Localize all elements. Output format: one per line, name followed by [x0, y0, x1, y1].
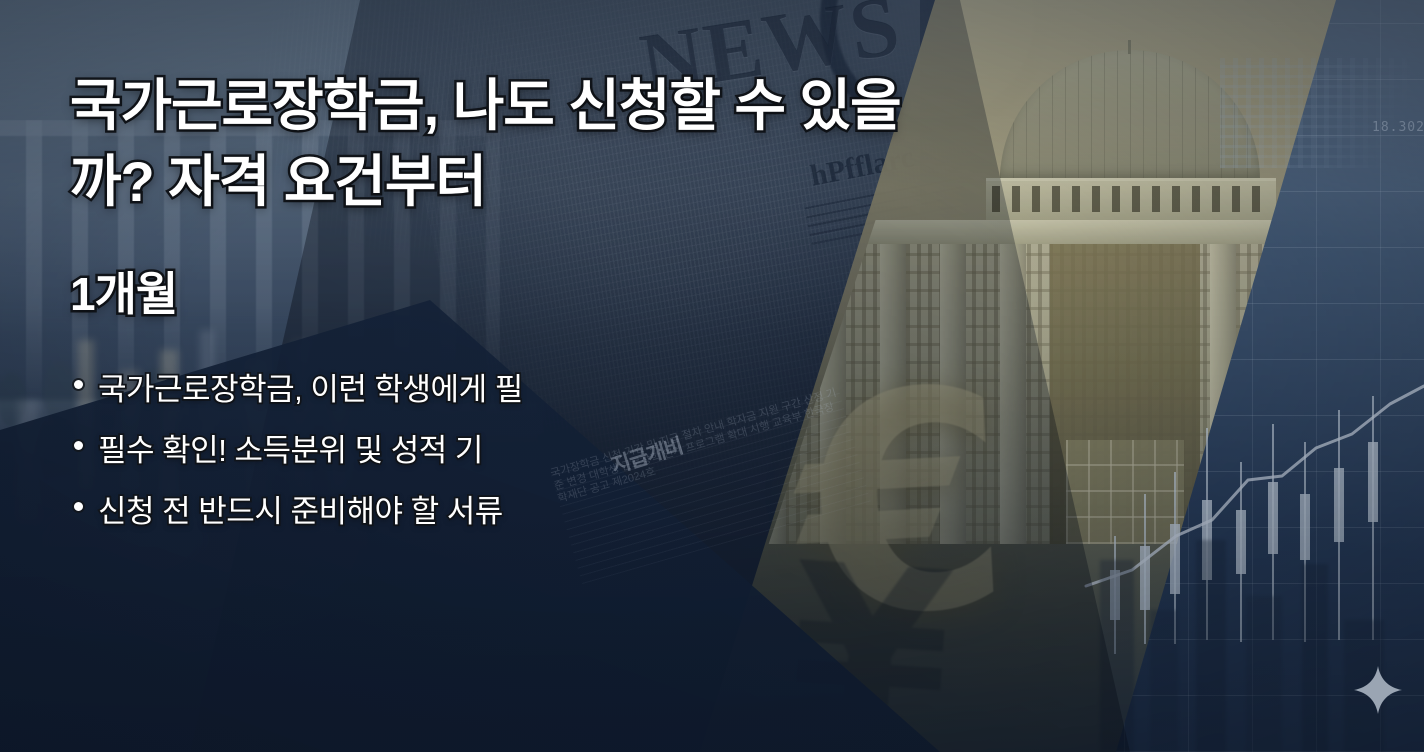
thumbnail-canvas: NEWS hPfflarc € ¥ 18.302.4: [0, 0, 1424, 752]
list-item: 국가근로장학금, 이런 학생에게 필: [70, 364, 523, 409]
topic-list: 국가근로장학금, 이런 학생에게 필 필수 확인! 소득분위 및 성적 기 신청…: [70, 364, 523, 547]
duration-label: 1개월: [70, 258, 177, 324]
list-item: 신청 전 반드시 준비해야 할 서류: [70, 486, 523, 531]
page-title: 국가근로장학금, 나도 신청할 수 있을까? 자격 요건부터: [70, 68, 940, 220]
thumbnail-content: 국가근로장학금, 나도 신청할 수 있을까? 자격 요건부터 1개월 국가근로장…: [0, 0, 1424, 752]
list-item: 필수 확인! 소득분위 및 성적 기: [70, 425, 523, 470]
sparkle-icon: [1353, 665, 1403, 715]
